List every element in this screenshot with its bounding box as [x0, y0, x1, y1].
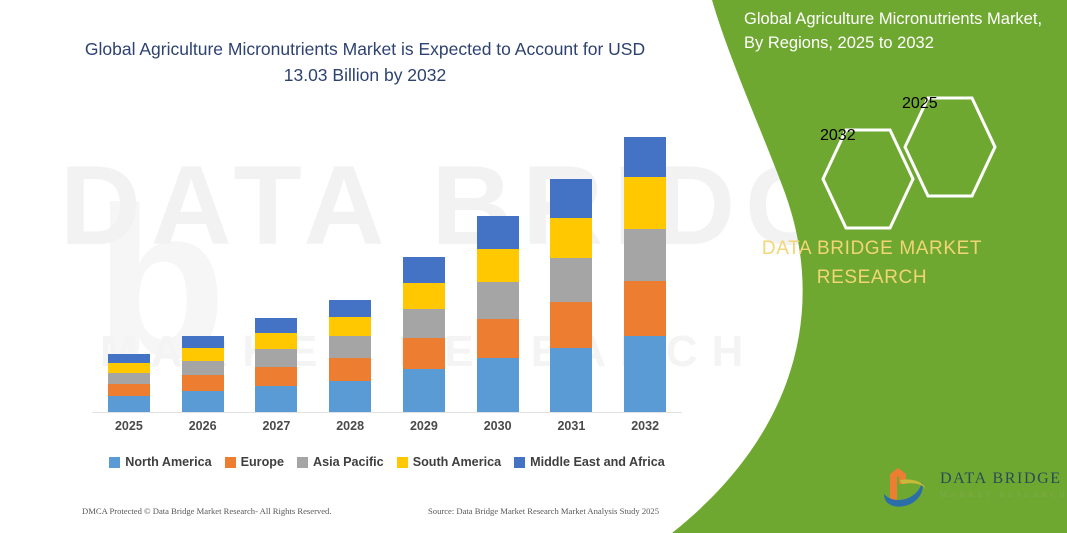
bar-segment[interactable] — [477, 319, 519, 358]
bar-segment[interactable] — [255, 367, 297, 386]
stacked-bar[interactable] — [255, 318, 297, 412]
bar-group — [92, 100, 682, 412]
legend-item[interactable]: Europe — [225, 455, 284, 469]
chart-title: Global Agriculture Micronutrients Market… — [70, 36, 660, 89]
legend-swatch — [397, 457, 408, 468]
bar-segment[interactable] — [108, 354, 150, 363]
bar-segment[interactable] — [329, 317, 371, 336]
bar-segment[interactable] — [329, 336, 371, 358]
x-axis-label: 2029 — [388, 419, 460, 433]
bar-segment[interactable] — [255, 333, 297, 349]
plot-area — [92, 100, 682, 412]
legend-label: Asia Pacific — [313, 455, 384, 469]
hexagon-2032-label: 2032 — [820, 127, 916, 231]
x-axis-label: 2027 — [240, 419, 312, 433]
data-bridge-logo: DATA BRIDGE MARKET RESEARCH — [880, 462, 1055, 518]
bar-segment[interactable] — [477, 249, 519, 282]
panel-title: Global Agriculture Micronutrients Market… — [744, 8, 1044, 56]
stacked-bar[interactable] — [477, 216, 519, 412]
hexagon-group: 2025 2032 — [792, 95, 1052, 225]
chart-panel: Global Agriculture Micronutrients Market… — [0, 0, 740, 533]
logo-icon — [880, 462, 936, 514]
bar-segment[interactable] — [403, 283, 445, 309]
bar-column — [535, 100, 607, 412]
legend-label: North America — [125, 455, 211, 469]
bar-segment[interactable] — [182, 336, 224, 348]
bar-column — [388, 100, 460, 412]
bar-segment[interactable] — [182, 391, 224, 412]
hexagon-2025-label: 2025 — [902, 95, 998, 199]
bar-segment[interactable] — [550, 258, 592, 302]
bar-segment[interactable] — [255, 349, 297, 367]
legend-swatch — [297, 457, 308, 468]
bar-segment[interactable] — [550, 302, 592, 348]
bar-segment[interactable] — [403, 369, 445, 412]
bar-segment[interactable] — [624, 137, 666, 177]
bar-column — [167, 100, 239, 412]
panel-brand: DATA BRIDGE MARKET RESEARCH — [712, 235, 1032, 292]
bar-segment[interactable] — [550, 348, 592, 412]
stacked-bar[interactable] — [182, 336, 224, 412]
legend-item[interactable]: North America — [109, 455, 211, 469]
bar-segment[interactable] — [108, 363, 150, 373]
stacked-bar[interactable] — [624, 137, 666, 412]
x-axis-label: 2025 — [93, 419, 165, 433]
logo-name: DATA BRIDGE — [940, 470, 1062, 488]
bar-segment[interactable] — [329, 358, 371, 381]
bar-column — [609, 100, 681, 412]
chart-legend: North AmericaEuropeAsia PacificSouth Ame… — [92, 455, 682, 469]
bar-segment[interactable] — [403, 309, 445, 338]
green-panel: Global Agriculture Micronutrients Market… — [672, 0, 1067, 533]
legend-item[interactable]: Asia Pacific — [297, 455, 384, 469]
stacked-bar[interactable] — [403, 257, 445, 412]
legend-label: South America — [413, 455, 501, 469]
legend-item[interactable]: Middle East and Africa — [514, 455, 665, 469]
x-axis-label: 2030 — [462, 419, 534, 433]
bar-segment[interactable] — [108, 373, 150, 384]
bar-segment[interactable] — [255, 386, 297, 412]
bar-segment[interactable] — [624, 336, 666, 412]
bar-segment[interactable] — [624, 281, 666, 336]
bar-segment[interactable] — [182, 348, 224, 361]
x-axis-label: 2032 — [609, 419, 681, 433]
bar-segment[interactable] — [477, 216, 519, 249]
bar-segment[interactable] — [624, 177, 666, 229]
legend-label: Middle East and Africa — [530, 455, 665, 469]
bar-segment[interactable] — [624, 229, 666, 281]
stacked-bar[interactable] — [550, 179, 592, 412]
bar-segment[interactable] — [182, 375, 224, 391]
bar-segment[interactable] — [477, 358, 519, 412]
infographic-root: b DATA BRIDGE MARKET RESEARCH Global Agr… — [0, 0, 1067, 533]
bar-column — [314, 100, 386, 412]
bar-segment[interactable] — [255, 318, 297, 333]
bar-column — [93, 100, 165, 412]
bar-segment[interactable] — [108, 384, 150, 396]
legend-swatch — [514, 457, 525, 468]
footer-copyright: DMCA Protected © Data Bridge Market Rese… — [82, 506, 332, 516]
legend-swatch — [225, 457, 236, 468]
logo-tagline: MARKET RESEARCH — [940, 490, 1067, 499]
bar-segment[interactable] — [477, 282, 519, 319]
bar-segment[interactable] — [403, 338, 445, 369]
x-axis-label: 2026 — [167, 419, 239, 433]
bar-segment[interactable] — [108, 396, 150, 412]
legend-label: Europe — [241, 455, 284, 469]
footer-source: Source: Data Bridge Market Research Mark… — [428, 506, 659, 516]
bar-segment[interactable] — [329, 300, 371, 317]
x-axis-line — [92, 412, 682, 413]
bar-column — [240, 100, 312, 412]
stacked-bar[interactable] — [329, 300, 371, 412]
legend-swatch — [109, 457, 120, 468]
bar-column — [462, 100, 534, 412]
bar-segment[interactable] — [403, 257, 445, 283]
stacked-bar[interactable] — [108, 354, 150, 412]
bar-segment[interactable] — [329, 381, 371, 412]
bar-segment[interactable] — [182, 361, 224, 375]
x-axis-label: 2028 — [314, 419, 386, 433]
legend-item[interactable]: South America — [397, 455, 501, 469]
bar-segment[interactable] — [550, 218, 592, 258]
x-axis-label: 2031 — [535, 419, 607, 433]
x-axis-labels: 20252026202720282029203020312032 — [92, 419, 682, 433]
bar-segment[interactable] — [550, 179, 592, 218]
